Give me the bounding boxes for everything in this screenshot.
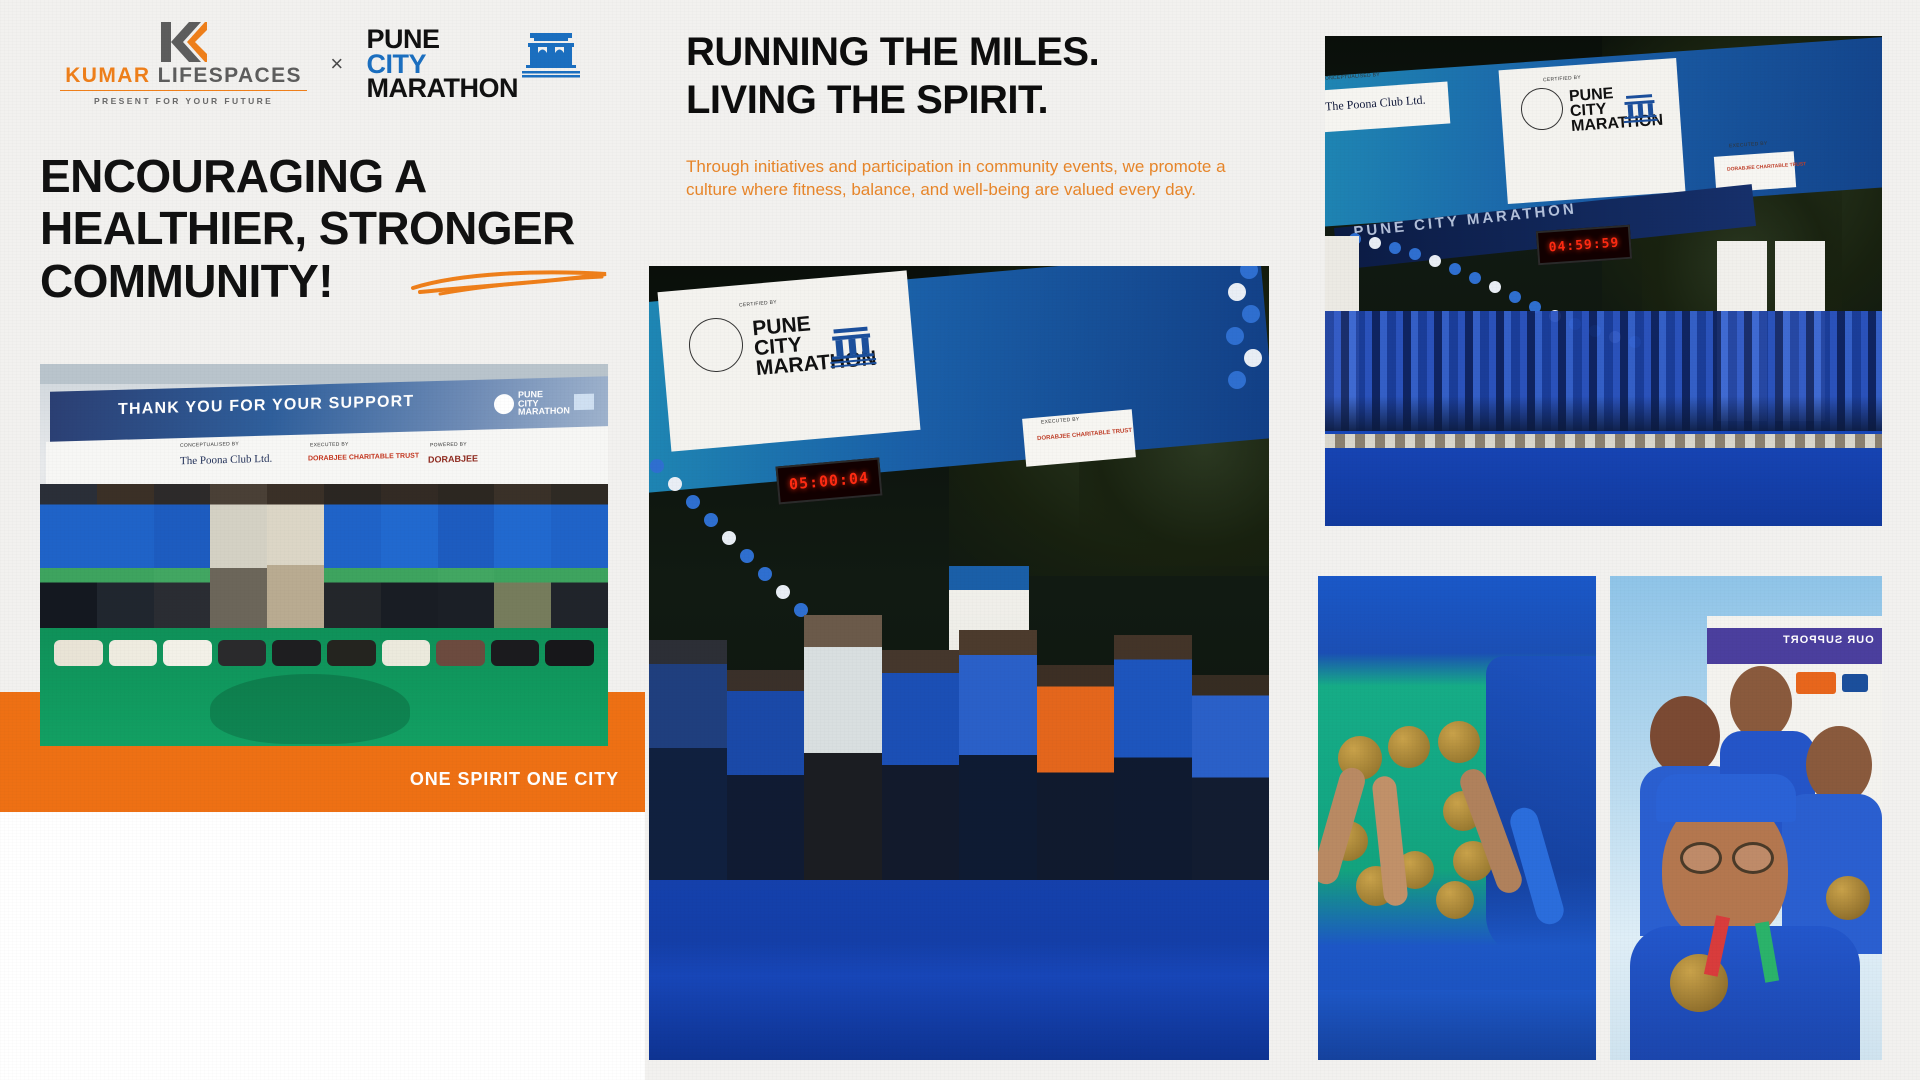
left-white-panel xyxy=(0,812,645,1080)
kumar-lifespaces-wordmark: KUMAR LIFESPACES xyxy=(65,65,302,86)
selfie-backdrop-text: OUR SUPPORT xyxy=(1782,634,1874,646)
middle-heading: RUNNING THE MILES. LIVING THE SPIRIT. xyxy=(686,28,1306,124)
photo-group-team: THANK YOU FOR YOUR SUPPORT PUNECITYMARAT… xyxy=(40,364,608,746)
logo-row: KUMAR LIFESPACES PRESENT FOR YOUR FUTURE… xyxy=(60,24,580,104)
photo-team-selfie: OUR SUPPORT xyxy=(1610,576,1882,1060)
middle-heading-line1: RUNNING THE MILES. xyxy=(686,28,1306,76)
pune-city-marathon-logo: PUNE CITY MARATHON xyxy=(367,27,580,101)
group-sponsor-conceptualised-name: The Poona Club Ltd. xyxy=(180,453,272,468)
photo-start-line-runners: CERTIFIED BY PUNE CITY MARATHON EXECUTED… xyxy=(649,266,1269,1060)
photo-start-arch-night: CONCEPTUALISED BY The Poona Club Ltd. CE… xyxy=(1325,36,1882,526)
orange-underline-swoosh-icon xyxy=(410,268,610,298)
middle-subtext: Through initiatives and participation in… xyxy=(686,155,1226,202)
pcm-gateway-icon xyxy=(522,29,580,81)
band-caption: ONE SPIRIT ONE CITY xyxy=(410,769,619,790)
logo-separator-x-icon: × xyxy=(307,51,366,77)
brand-name-part1: KUMAR xyxy=(65,64,150,87)
group-sponsor-executed-label: EXECUTED BY xyxy=(310,441,349,448)
middle-heading-line2: LIVING THE SPIRIT. xyxy=(686,76,1306,124)
brand-tagline: PRESENT FOR YOUR FUTURE xyxy=(94,96,273,106)
group-sponsor-powered-name: DORABJEE xyxy=(428,453,478,464)
brand-rule xyxy=(60,90,307,92)
photo-medals-hands xyxy=(1318,576,1596,1060)
group-sponsor-powered-label: POWERED BY xyxy=(430,441,467,448)
pcm-line3: MARATHON xyxy=(367,76,518,101)
kumar-lifespaces-logo: KUMAR LIFESPACES PRESENT FOR YOUR FUTURE xyxy=(60,22,307,107)
pcm-line1: PUNE xyxy=(367,27,518,52)
group-photo-pcm-logo: PUNECITYMARATHON xyxy=(518,389,570,416)
brand-name-part2: LIFESPACES xyxy=(158,64,302,87)
kumar-lifespaces-mark-icon xyxy=(161,22,207,62)
